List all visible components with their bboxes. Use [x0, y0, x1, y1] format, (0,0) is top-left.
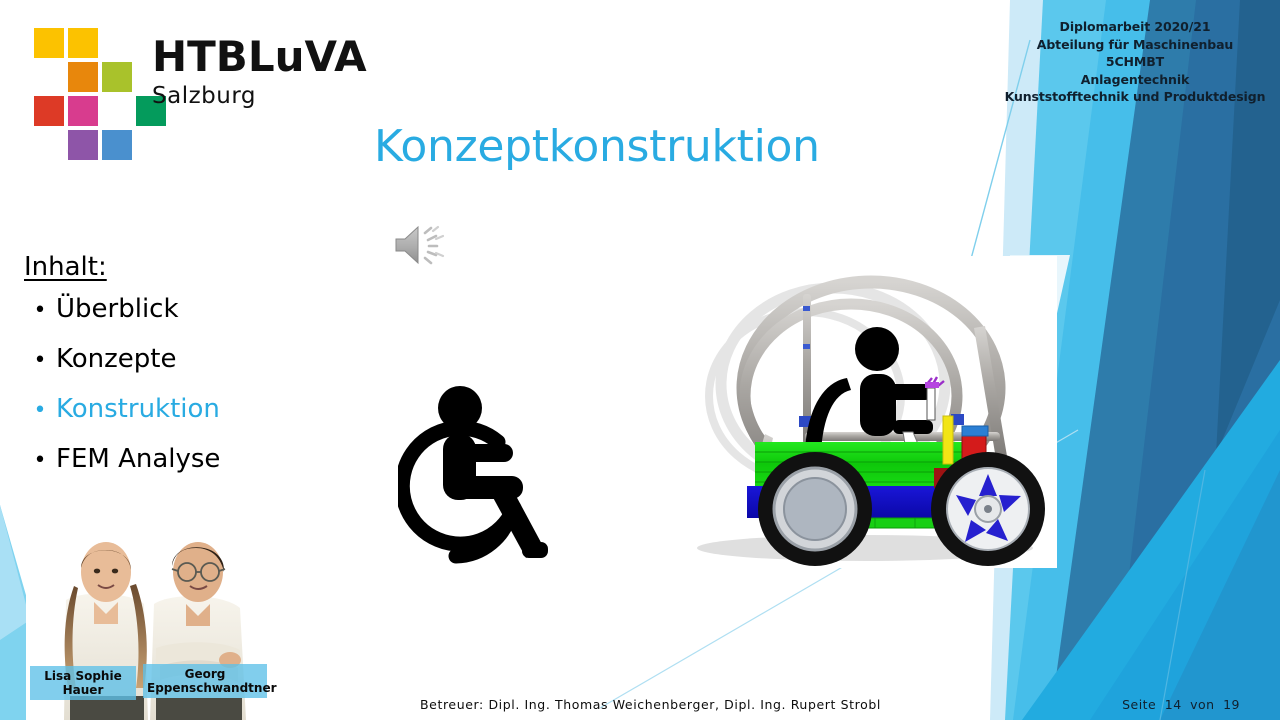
header-line-3: 5CHMBT	[1004, 53, 1266, 71]
agenda-item-konstruktion[interactable]: • Konstruktion	[24, 394, 314, 426]
header-line-4: Anlagentechnik	[1004, 71, 1266, 89]
logo-square-orange	[68, 62, 98, 92]
name-line-2: Eppenschwandtner	[147, 681, 263, 695]
agenda-item-fem-analyse[interactable]: • FEM Analyse	[24, 444, 314, 476]
logo-square-red	[34, 96, 64, 126]
htbluva-logo: HTBLuVA Salzburg	[24, 28, 334, 128]
agenda-item-konzepte[interactable]: • Konzepte	[24, 344, 314, 376]
header-line-1: Diplomarbeit 2020/21	[1004, 18, 1266, 36]
name-tag-person-2: Georg Eppenschwandtner	[143, 664, 267, 698]
logo-square-grid	[24, 28, 142, 130]
agenda-item-label: Überblick	[56, 294, 179, 324]
name-line-2: Hauer	[34, 683, 132, 697]
supervisors-footer: Betreuer: Dipl. Ing. Thomas Weichenberge…	[420, 697, 881, 712]
bullet-icon: •	[24, 296, 56, 326]
logo-square-magenta	[68, 96, 98, 126]
logo-square-blue	[102, 130, 132, 160]
logo-square-yellow-2	[68, 28, 98, 58]
agenda-item-label: Konstruktion	[56, 394, 220, 424]
bullet-icon: •	[24, 346, 56, 376]
header-line-2: Abteilung für Maschinenbau	[1004, 36, 1266, 54]
wheelchair-icon	[398, 380, 566, 566]
cad-render-image	[655, 256, 1057, 568]
page-number: 14	[1165, 697, 1182, 712]
agenda-item-label: Konzepte	[56, 344, 176, 374]
page-label: Seite	[1122, 697, 1156, 712]
page-indicator: Seite 14 von 19	[1120, 697, 1242, 712]
page-total: 19	[1223, 697, 1240, 712]
bullet-icon: •	[24, 396, 56, 426]
presentation-slide: HTBLuVA Salzburg Diplomarbeit 2020/21 Ab…	[0, 0, 1280, 720]
agenda-item-uberblick[interactable]: • Überblick	[24, 294, 314, 326]
name-tag-person-1: Lisa Sophie Hauer	[30, 666, 136, 700]
logo-square-olive	[102, 62, 132, 92]
logo-wordmark: HTBLuVA Salzburg	[152, 34, 367, 110]
slide-title: Konzeptkonstruktion	[374, 120, 820, 174]
header-line-5: Kunststofftechnik und Produktdesign	[1004, 88, 1266, 106]
agenda-heading: Inhalt:	[24, 250, 314, 284]
header-info-block: Diplomarbeit 2020/21 Abteilung für Masch…	[1004, 18, 1266, 106]
logo-square-purple	[68, 130, 98, 160]
name-line-1: Lisa Sophie	[34, 669, 132, 683]
page-of-label: von	[1190, 697, 1214, 712]
name-line-1: Georg	[147, 667, 263, 681]
agenda-list: Inhalt: • Überblick • Konzepte • Konstru…	[24, 250, 314, 494]
logo-square-yellow-1	[34, 28, 64, 58]
logo-subtitle: Salzburg	[152, 82, 367, 110]
bullet-icon: •	[24, 446, 56, 476]
speaker-icon[interactable]	[392, 221, 450, 269]
logo-title: HTBLuVA	[152, 34, 367, 80]
agenda-item-label: FEM Analyse	[56, 444, 220, 474]
